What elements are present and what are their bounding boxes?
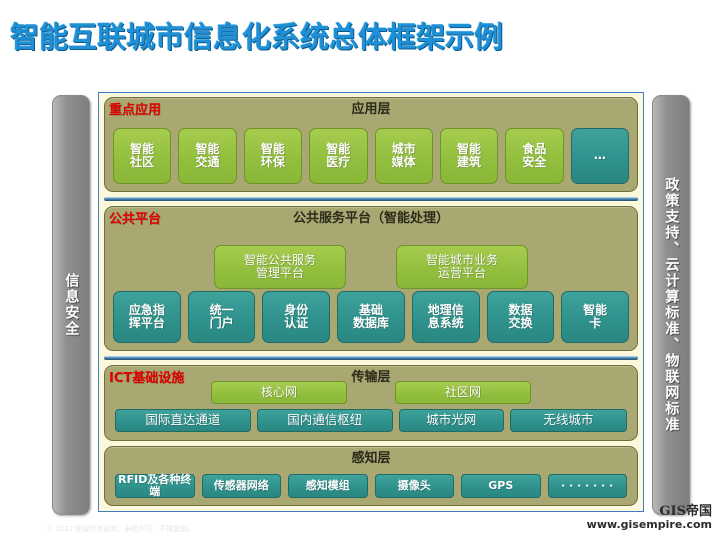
box-line: 安全 bbox=[522, 156, 546, 169]
pub-box-data-exchange[interactable]: 数据 交换 bbox=[487, 291, 555, 343]
per-box-sensing-module[interactable]: 感知模组 bbox=[288, 474, 368, 498]
app-box-smart-building[interactable]: 智能 建筑 bbox=[440, 128, 498, 184]
box-line: 无线城市 bbox=[543, 413, 593, 427]
ict-box-international-direct-channel[interactable]: 国际直达通道 bbox=[115, 409, 251, 432]
box-line: 智能 bbox=[261, 143, 285, 156]
box-line: 环保 bbox=[261, 156, 285, 169]
platform-box-public-service-management[interactable]: 智能公共服务 管理平台 bbox=[214, 245, 346, 289]
layer-application-tag: 重点应用 bbox=[109, 99, 161, 118]
perception-box-row: RFID及各种终端 传感器网络 感知模组 摄像头 GPS · bbox=[115, 474, 627, 498]
box-line: 媒体 bbox=[392, 156, 416, 169]
layer-perception-title: 感知层 bbox=[112, 450, 630, 468]
box-line: 息系统 bbox=[428, 317, 464, 330]
application-box-row: 智能 社区 智能 交通 智能 环保 智能 医疗 bbox=[113, 128, 629, 184]
layer-application: 重点应用 应用层 智能 社区 智能 交通 智能 环保 bbox=[104, 97, 638, 192]
pub-box-smart-card[interactable]: 智能 卡 bbox=[561, 291, 629, 343]
ict-box-domestic-comm-hub[interactable]: 国内通信枢纽 bbox=[257, 409, 393, 432]
box-line: 门户 bbox=[210, 317, 234, 330]
box-line: 摄像头 bbox=[398, 480, 431, 492]
layer-public-platform-title: 公共服务平台（智能处理） bbox=[112, 210, 630, 228]
box-line: 挥平台 bbox=[129, 317, 165, 330]
per-box-gps[interactable]: GPS bbox=[461, 474, 541, 498]
box-line: 食品 bbox=[522, 143, 546, 156]
watermark-url: www.gisempire.com bbox=[587, 519, 712, 532]
per-box-camera[interactable]: 摄像头 bbox=[375, 474, 455, 498]
ict-box-city-optical-network[interactable]: 城市光网 bbox=[399, 409, 504, 432]
box-line: 国内通信枢纽 bbox=[287, 413, 362, 427]
platform-box-city-business-operation[interactable]: 智能城市业务 运营平台 bbox=[396, 245, 528, 289]
pub-box-gis[interactable]: 地理信 息系统 bbox=[412, 291, 480, 343]
box-line: 城市 bbox=[392, 143, 416, 156]
pillar-right-label: 政策支持、云计算标准、物联网标准 bbox=[664, 177, 679, 433]
app-box-smart-environment[interactable]: 智能 环保 bbox=[244, 128, 302, 184]
app-box-more-ellipsis[interactable]: … bbox=[571, 128, 629, 184]
box-line: 智能城市业务 bbox=[426, 254, 498, 267]
box-line: 运营平台 bbox=[438, 267, 486, 280]
framework-diagram: 重点应用 应用层 智能 社区 智能 交通 智能 环保 bbox=[98, 92, 644, 512]
box-line: 社区网 bbox=[445, 386, 481, 399]
box-line: 交换 bbox=[508, 317, 532, 330]
app-box-smart-community[interactable]: 智能 社区 bbox=[113, 128, 171, 184]
separator-band bbox=[104, 356, 638, 360]
page-title: 智能互联城市信息化系统总体框架示例 bbox=[10, 14, 503, 56]
separator-band bbox=[104, 197, 638, 201]
box-line: 感知模组 bbox=[306, 480, 350, 492]
layer-public-platform-tag: 公共平台 bbox=[109, 208, 161, 227]
box-line: · · · · · · · bbox=[561, 480, 613, 492]
per-box-rfid-terminals[interactable]: RFID及各种终端 bbox=[115, 474, 195, 498]
layer-perception: 感知层 RFID及各种终端 传感器网络 感知模组 摄像头 GPS bbox=[104, 446, 638, 506]
layer-application-title: 应用层 bbox=[112, 101, 630, 119]
per-box-sensor-network[interactable]: 传感器网络 bbox=[202, 474, 282, 498]
box-line: 传感器网络 bbox=[214, 480, 269, 492]
app-box-smart-healthcare[interactable]: 智能 医疗 bbox=[309, 128, 367, 184]
box-line: 核心网 bbox=[261, 386, 297, 399]
transmission-network-row: 核心网 社区网 bbox=[105, 381, 637, 404]
pillar-information-security: 信息安全 bbox=[52, 95, 90, 515]
pillar-policy-standards: 政策支持、云计算标准、物联网标准 bbox=[652, 95, 690, 515]
ict-box-community-network[interactable]: 社区网 bbox=[395, 381, 531, 404]
layer-ict-tag: ICT基础设施 bbox=[109, 367, 184, 386]
box-line: 智能 bbox=[196, 143, 220, 156]
box-line: 智能 bbox=[326, 143, 350, 156]
box-line: RFID及各种终端 bbox=[116, 474, 194, 499]
box-line: 智能 bbox=[130, 143, 154, 156]
app-box-city-media[interactable]: 城市 媒体 bbox=[375, 128, 433, 184]
box-line: … bbox=[594, 149, 606, 162]
box-line: GPS bbox=[488, 480, 513, 492]
box-line: 认证 bbox=[284, 317, 308, 330]
ict-box-wireless-city[interactable]: 无线城市 bbox=[510, 409, 627, 432]
pillar-left-label: 信息安全 bbox=[64, 273, 79, 337]
box-line: 管理平台 bbox=[256, 267, 304, 280]
box-line: 医疗 bbox=[326, 156, 350, 169]
ict-box-core-network[interactable]: 核心网 bbox=[211, 381, 347, 404]
pub-box-unified-portal[interactable]: 统一 门户 bbox=[188, 291, 256, 343]
layer-ict-infrastructure: ICT基础设施 传输层 核心网 社区网 国际直达通道 国内通信枢纽 bbox=[104, 365, 638, 441]
pub-box-emergency-command[interactable]: 应急指 挥平台 bbox=[113, 291, 181, 343]
pub-box-base-database[interactable]: 基础 数据库 bbox=[337, 291, 405, 343]
transmission-channel-row: 国际直达通道 国内通信枢纽 城市光网 无线城市 bbox=[115, 409, 627, 432]
app-box-food-safety[interactable]: 食品 安全 bbox=[505, 128, 563, 184]
box-line: 建筑 bbox=[457, 156, 481, 169]
box-line: 交通 bbox=[196, 156, 220, 169]
copyright-text: © 2012 保留所有权利。未经许可，不得复制。 bbox=[46, 524, 194, 534]
box-line: 社区 bbox=[130, 156, 154, 169]
layer-public-platform: 公共平台 公共服务平台（智能处理） 智能公共服务 管理平台 智能城市业务 运营平… bbox=[104, 206, 638, 351]
pub-box-identity-authentication[interactable]: 身份 认证 bbox=[262, 291, 330, 343]
watermark-brand: GIS帝国 bbox=[587, 504, 712, 519]
app-box-smart-transport[interactable]: 智能 交通 bbox=[178, 128, 236, 184]
slide-canvas: 智能互联城市信息化系统总体框架示例 信息安全 政策支持、云计算标准、物联网标准 … bbox=[0, 0, 720, 540]
box-line: 国际直达通道 bbox=[145, 413, 220, 427]
box-line: 卡 bbox=[589, 317, 601, 330]
public-platform-row: 智能公共服务 管理平台 智能城市业务 运营平台 bbox=[105, 245, 637, 289]
box-line: 数据库 bbox=[353, 317, 389, 330]
box-line: 城市光网 bbox=[426, 413, 476, 427]
per-box-more-ellipsis[interactable]: · · · · · · · bbox=[548, 474, 628, 498]
box-line: 智能 bbox=[457, 143, 481, 156]
box-line: 智能公共服务 bbox=[244, 254, 316, 267]
public-platform-component-row: 应急指 挥平台 统一 门户 身份 认证 基础 数据库 bbox=[113, 291, 629, 343]
watermark: GIS帝国 www.gisempire.com bbox=[587, 504, 712, 532]
